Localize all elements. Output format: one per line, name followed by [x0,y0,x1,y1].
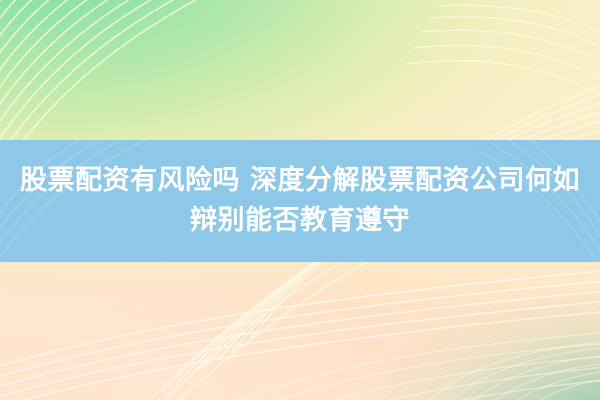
banner-canvas: 股票配资有风险吗 深度分解股票配资公司何如辩别能否教育遵守 [0,0,600,400]
banner-title: 股票配资有风险吗 深度分解股票配资公司何如辩别能否教育遵守 [20,161,580,241]
title-banner-band: 股票配资有风险吗 深度分解股票配资公司何如辩别能否教育遵守 [0,140,600,262]
